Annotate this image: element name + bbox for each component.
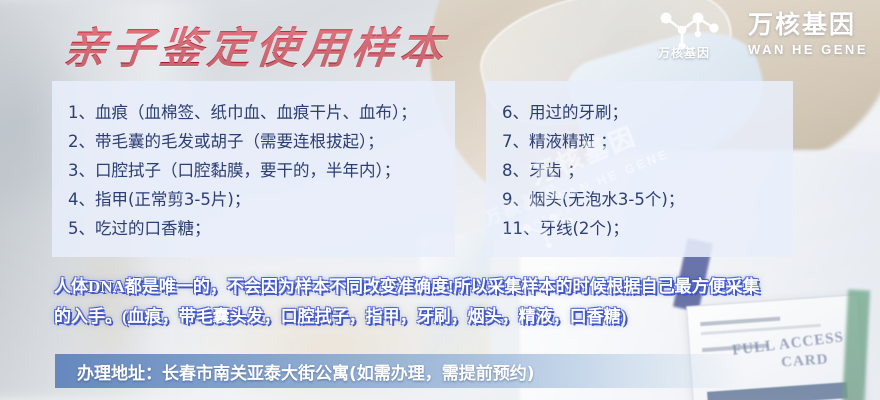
sample-list-panel-right: 6、用过的牙刷； 7、精液精斑 ； 8、牙齿 ； 9、烟头(无泡水3-5个)； …: [486, 81, 793, 257]
list-item: 8、牙齿 ；: [502, 156, 793, 185]
list-item: 1、血痕（血棉签、纸巾血、血痕干片、血布）；: [68, 98, 455, 127]
list-item: 5、吃过的口香糖；: [68, 214, 455, 243]
logo-mark-label: 万核基因: [658, 44, 710, 61]
brand-text: 万核基因 WAN HE GENE: [748, 13, 868, 56]
description-paragraph: 人体DNA都是唯一的，不会因为样本不同改变准确度!所以采集样本的时候根据自己最方…: [54, 272, 844, 332]
list-item: 6、用过的牙刷；: [502, 98, 793, 127]
brand-name-cn: 万核基因: [748, 13, 868, 38]
list-item: 4、指甲(正常剪3-5片)；: [68, 185, 455, 214]
list-item: 7、精液精斑 ；: [502, 127, 793, 156]
sample-list-left: 1、血痕（血棉签、纸巾血、血痕干片、血布）； 2、带毛囊的毛发或胡子（需要连根拔…: [52, 81, 455, 243]
brand-name-en: WAN HE GENE: [748, 43, 868, 56]
list-item: 11、牙线(2个)；: [502, 214, 793, 243]
list-item: 2、带毛囊的毛发或胡子（需要连根拔起）；: [68, 127, 455, 156]
poster-root: FULL ACCESS CARD: [0, 0, 880, 400]
dna-molecule-icon: 万核基因: [652, 8, 736, 60]
sample-list-panel-left: 1、血痕（血棉签、纸巾血、血痕干片、血布）； 2、带毛囊的毛发或胡子（需要连根拔…: [52, 81, 455, 257]
list-item: 9、烟头(无泡水3-5个)；: [502, 185, 793, 214]
address-text: 办理地址：长春市南关亚泰大街公寓(如需办理，需提前预约): [77, 359, 535, 384]
list-item: 3、口腔拭子（口腔黏膜，要干的，半年内）；: [68, 156, 455, 185]
brand-logo: 万核基因 万核基因 WAN HE GENE: [652, 8, 868, 60]
page-title: 亲子鉴定使用样本: [61, 14, 452, 76]
sample-list-right: 6、用过的牙刷； 7、精液精斑 ； 8、牙齿 ； 9、烟头(无泡水3-5个)； …: [486, 81, 793, 243]
address-bar: 办理地址：长春市南关亚泰大街公寓(如需办理，需提前预约): [55, 354, 745, 388]
